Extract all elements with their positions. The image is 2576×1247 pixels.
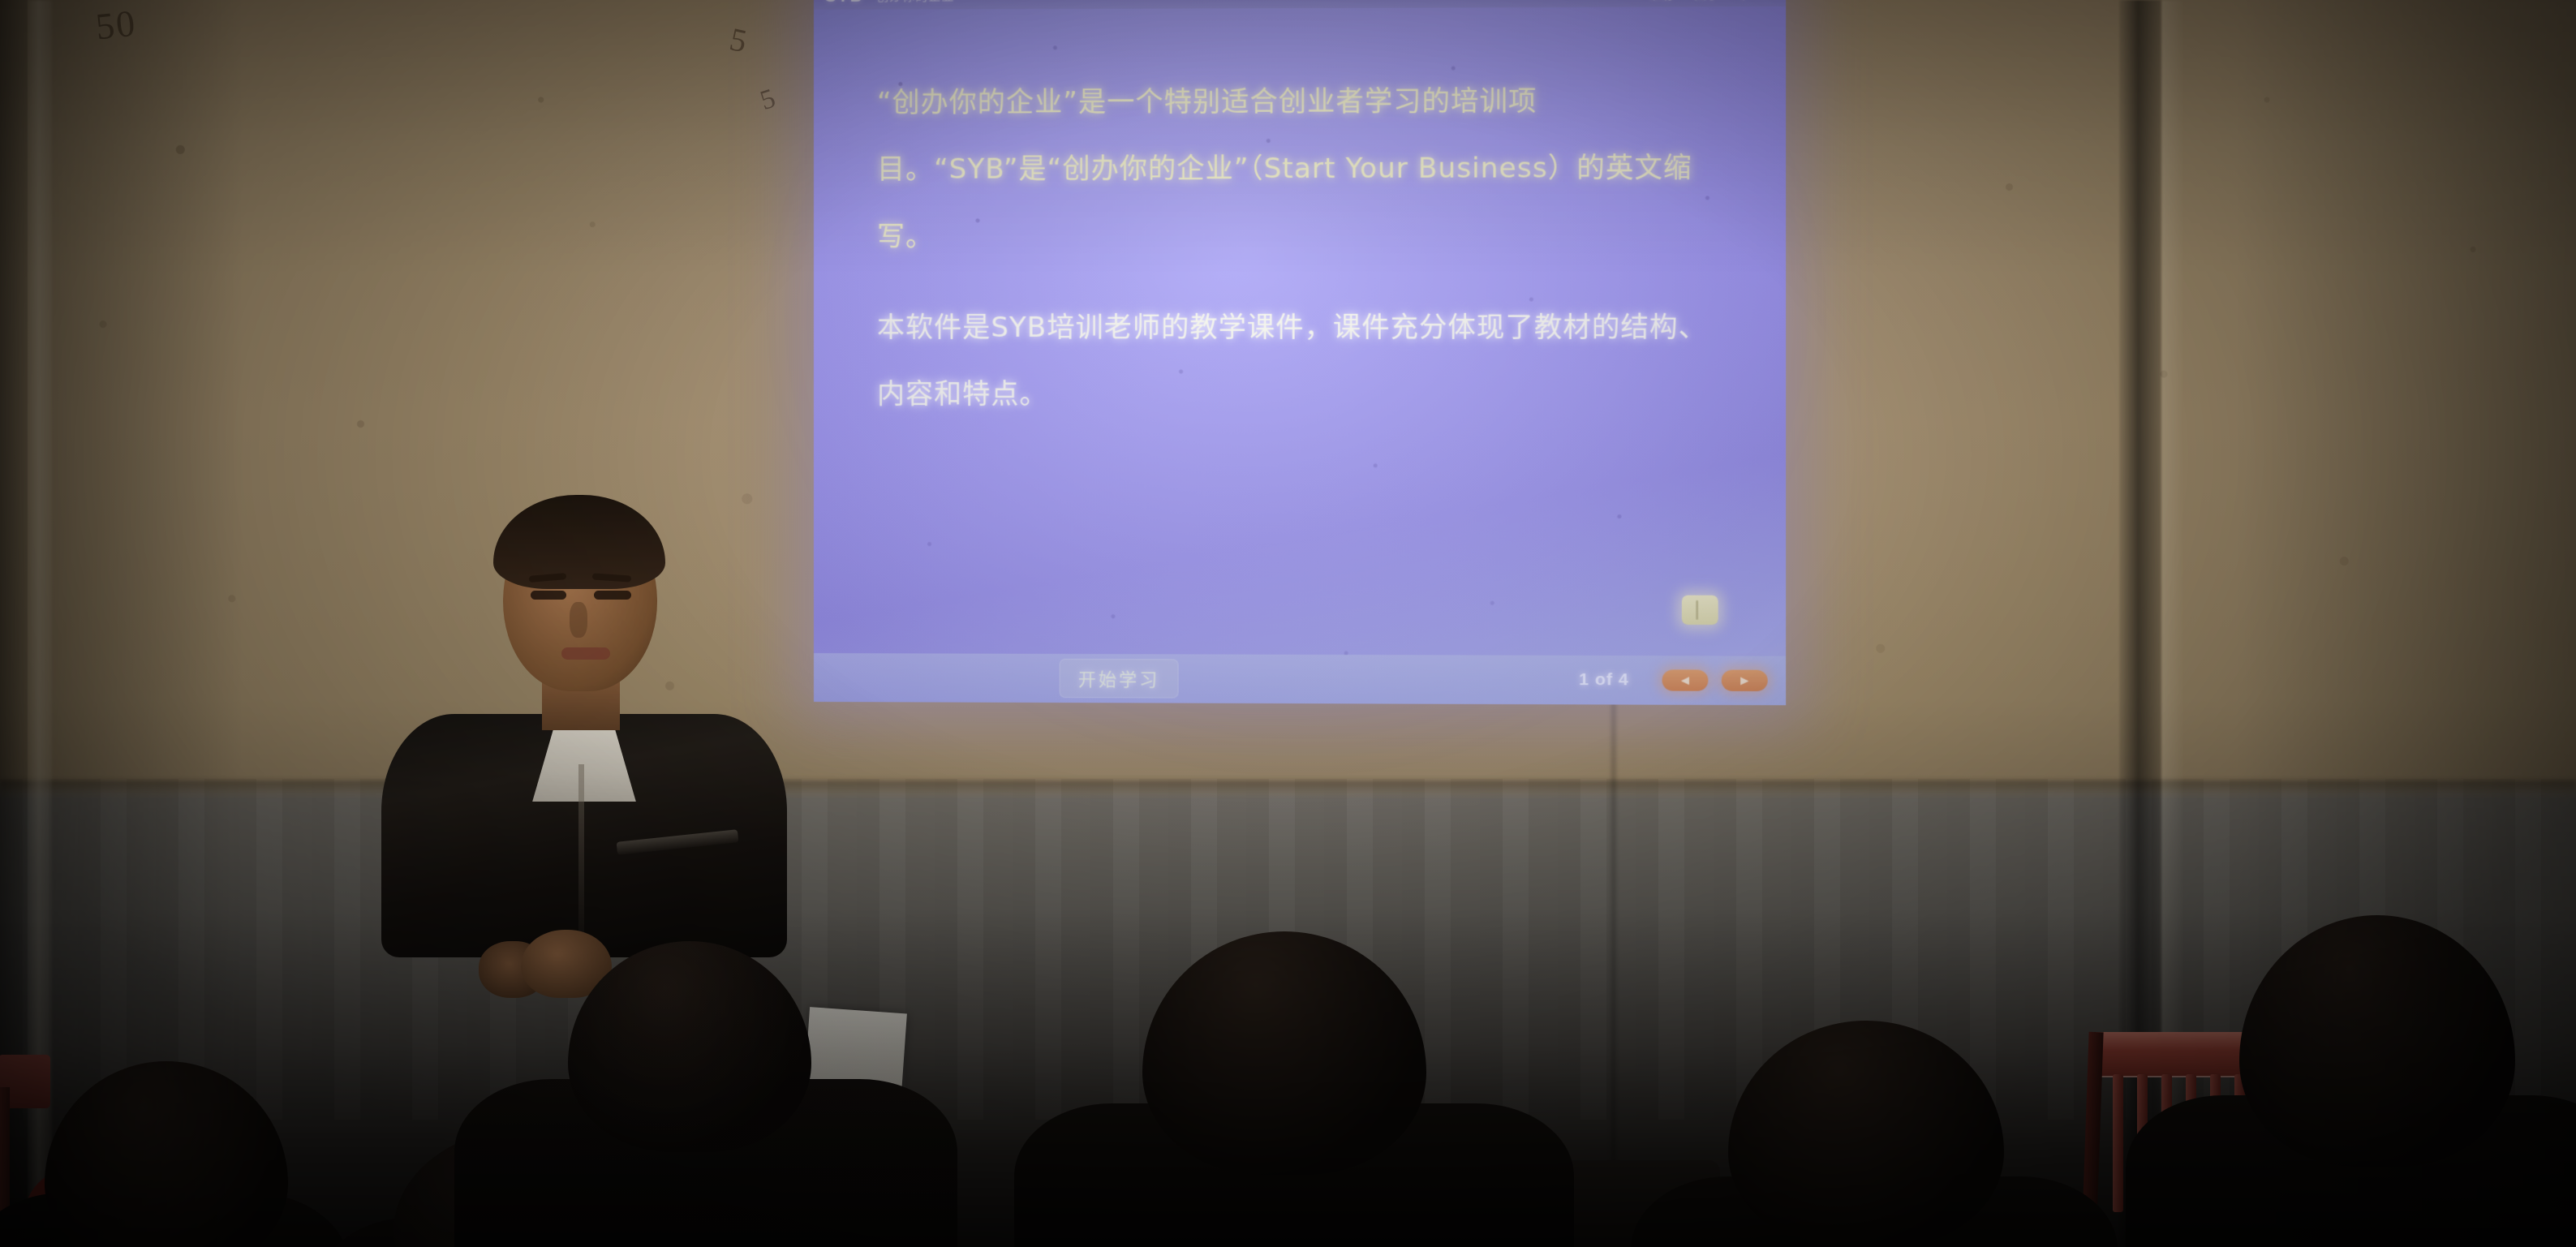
start-learning-button[interactable]: 开始学习	[1060, 659, 1179, 699]
prev-slide-button[interactable]: ◀	[1662, 669, 1708, 690]
slide-content: “创办你的企业”是一个特别适合创业者学习的培训项目。“SYB”是“创办你的企业”…	[814, 6, 1786, 656]
app-title-text: 创办你的企业	[876, 0, 954, 2]
app-menu-bar[interactable]: 帮助 关于 ( X	[1648, 0, 1774, 2]
page-indicator: 1 of 4	[1579, 670, 1629, 690]
slide-paragraph-1: “创办你的企业”是一个特别适合创业者学习的培训项目。“SYB”是“创办你的企业”…	[877, 67, 1722, 270]
nav-button-group: ◀ ▶	[1662, 669, 1767, 691]
projected-slide-screen[interactable]: SYB 创办你的企业 帮助 关于 ( X “创办你的企业”是一个特别适合创业者学…	[814, 0, 1786, 705]
menu-item-help[interactable]: 帮助	[1648, 0, 1673, 2]
next-slide-button[interactable]: ▶	[1722, 670, 1768, 691]
note-card-icon[interactable]	[1682, 596, 1718, 625]
slide-toolbar: 开始学习 1 of 4 ◀ ▶	[814, 653, 1786, 705]
menu-item-about[interactable]: 关于	[1694, 0, 1719, 2]
wall-dado-line	[0, 780, 2576, 795]
slide-paragraph-2: 本软件是SYB培训老师的教学课件，课件充分体现了教材的结构、内容和特点。	[877, 294, 1722, 428]
close-icon[interactable]: X	[1766, 0, 1774, 1]
classroom-projection-scene: 50 5 5 SYB 创办你的企业 帮助 关于 ( X “创办你的企业”是一个特…	[0, 0, 2576, 1247]
menu-item-extra[interactable]: (	[1740, 0, 1744, 1]
app-logo: SYB	[825, 0, 863, 5]
